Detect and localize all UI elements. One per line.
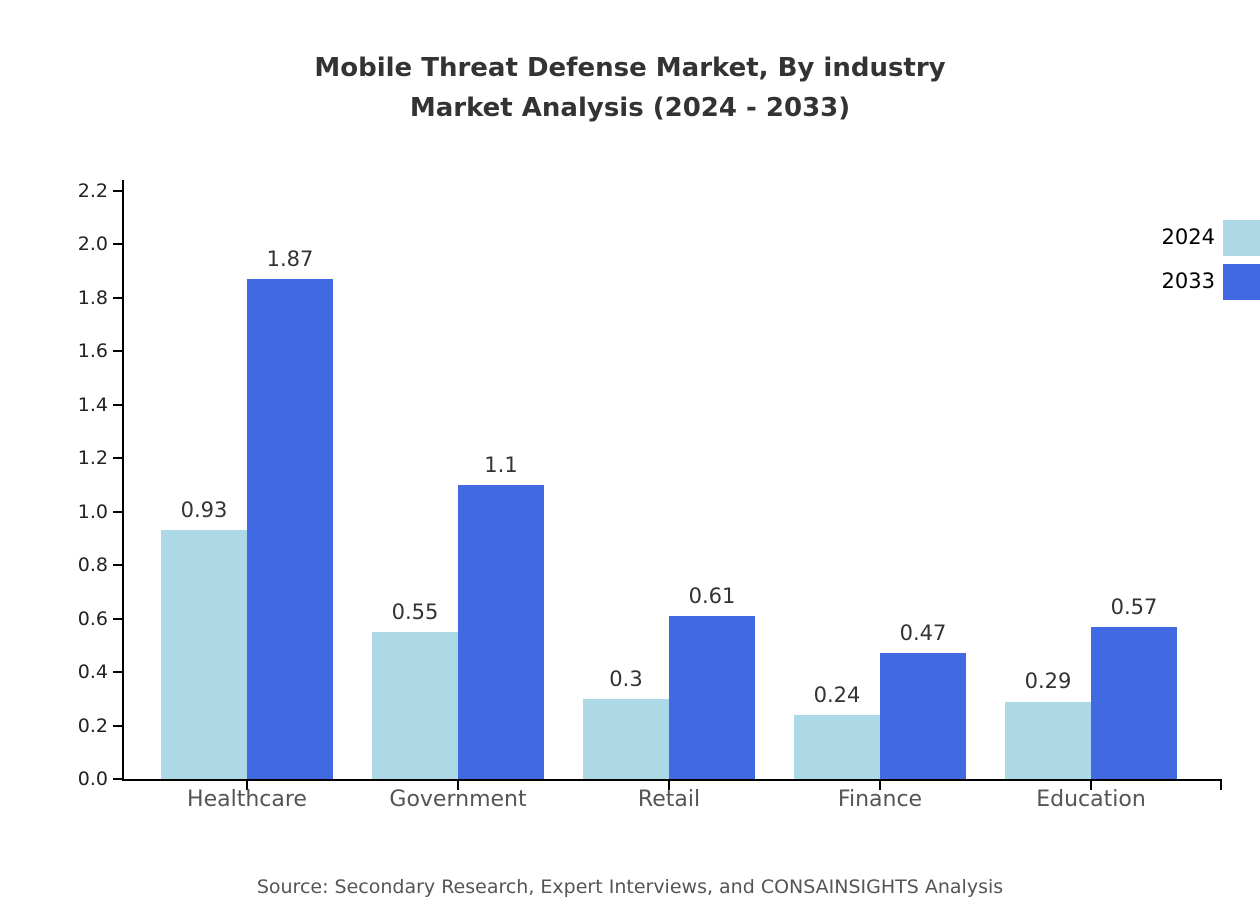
legend-swatch — [1223, 264, 1260, 300]
y-axis-tick-label: 0.8 — [78, 554, 108, 576]
bar-value-label: 1.1 — [484, 453, 517, 477]
y-axis-tick-label: 0.4 — [78, 661, 108, 683]
x-axis-category-label: Finance — [838, 787, 922, 812]
legend-item-2024[interactable]: 2024 — [1135, 218, 1260, 256]
y-axis-tick — [113, 350, 122, 352]
bar-2024-retail[interactable] — [583, 699, 669, 779]
bar-value-label: 0.47 — [900, 621, 947, 645]
chart-title-line2: Market Analysis (2024 - 2033) — [0, 88, 1260, 128]
y-axis-tick-label: 1.0 — [78, 501, 108, 523]
y-axis-tick — [113, 457, 122, 459]
legend-label: 2033 — [1135, 262, 1215, 300]
y-axis-tick-label: 1.2 — [78, 447, 108, 469]
y-axis-tick-label: 0.2 — [78, 715, 108, 737]
y-axis-tick — [113, 404, 122, 406]
bar-2033-retail[interactable] — [669, 616, 755, 779]
bar-2033-government[interactable] — [458, 485, 544, 779]
source-note: Source: Secondary Research, Expert Inter… — [0, 876, 1260, 898]
y-axis-tick-label: 2.0 — [78, 233, 108, 255]
y-axis-tick-label: 0.6 — [78, 608, 108, 630]
bar-value-label: 1.87 — [267, 247, 314, 271]
legend-item-2033[interactable]: 2033 — [1135, 262, 1260, 300]
bar-value-label: 0.29 — [1025, 669, 1072, 693]
chart-title: Mobile Threat Defense Market, By industr… — [0, 48, 1260, 128]
y-axis-tick — [113, 243, 122, 245]
y-axis-tick — [113, 671, 122, 673]
bar-value-label: 0.55 — [392, 600, 439, 624]
x-axis-category-label: Retail — [638, 787, 700, 812]
bar-value-label: 0.93 — [181, 498, 228, 522]
bar-2024-education[interactable] — [1005, 702, 1091, 780]
bar-2033-finance[interactable] — [880, 653, 966, 779]
y-axis-tick — [113, 778, 122, 780]
y-axis-tick — [113, 297, 122, 299]
legend-swatch — [1223, 220, 1260, 256]
y-axis-tick-label: 0.0 — [78, 768, 108, 790]
bar-2033-education[interactable] — [1091, 627, 1177, 779]
x-axis-category-label: Government — [389, 787, 526, 812]
chart-title-line1: Mobile Threat Defense Market, By industr… — [314, 53, 945, 83]
y-axis-spine — [122, 180, 124, 781]
chart-legend: 20242033 — [1135, 218, 1260, 308]
y-axis-tick — [113, 564, 122, 566]
y-axis-tick-label: 2.2 — [78, 180, 108, 202]
bar-value-label: 0.3 — [609, 667, 642, 691]
x-axis-category-label: Education — [1036, 787, 1146, 812]
y-axis-tick — [113, 725, 122, 727]
bar-2033-healthcare[interactable] — [247, 279, 333, 779]
bar-2024-finance[interactable] — [794, 715, 880, 779]
bar-value-label: 0.24 — [814, 683, 861, 707]
bar-2024-healthcare[interactable] — [161, 530, 247, 779]
y-axis-tick-label: 1.4 — [78, 394, 108, 416]
y-axis-tick — [113, 618, 122, 620]
y-axis-tick-label: 1.6 — [78, 340, 108, 362]
y-axis-tick — [113, 190, 122, 192]
legend-label: 2024 — [1135, 218, 1215, 256]
bar-2024-government[interactable] — [372, 632, 458, 779]
bar-value-label: 0.57 — [1111, 595, 1158, 619]
chart-figure: Mobile Threat Defense Market, By industr… — [0, 0, 1260, 920]
bar-value-label: 0.61 — [689, 584, 736, 608]
y-axis-tick-label: 1.8 — [78, 287, 108, 309]
x-axis-category-label: Healthcare — [187, 787, 307, 812]
y-axis-tick — [113, 511, 122, 513]
x-axis-spine — [122, 779, 1222, 781]
x-axis-end-tick — [1220, 781, 1222, 790]
plot-area: 0.931.870.551.10.30.610.240.470.290.57 H… — [122, 180, 1222, 781]
